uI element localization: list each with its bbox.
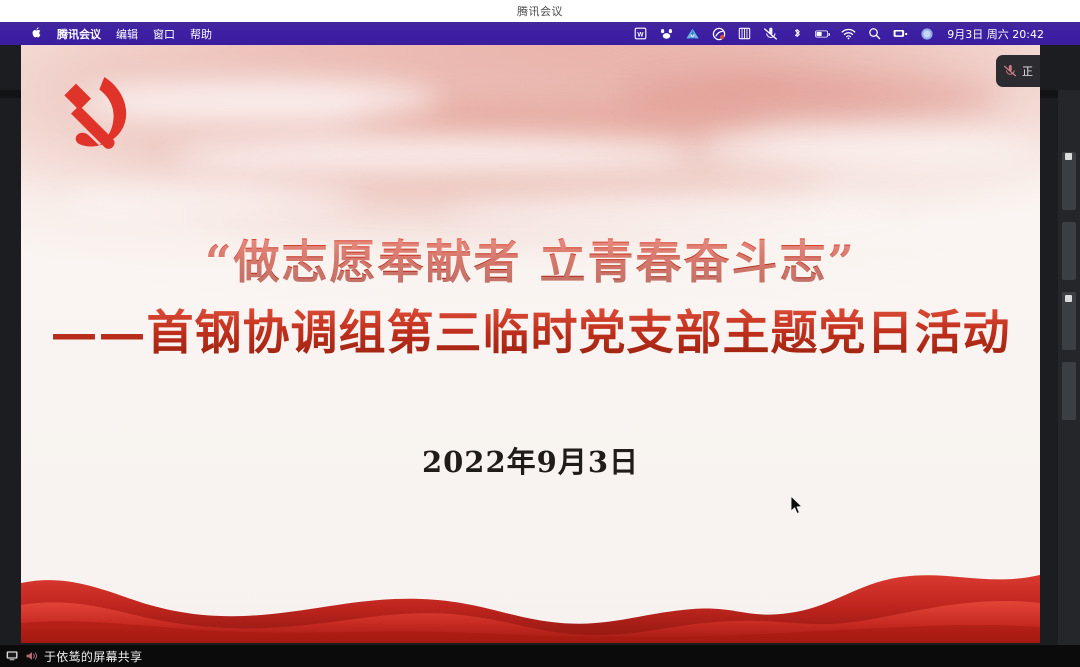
participant-indicator: [1065, 153, 1072, 160]
slide-date: 2022年9月3日: [21, 439, 1040, 481]
cloud-texture: [261, 171, 821, 203]
slide-text-block: “做志愿奉献者 立青春奋斗志” ——首钢协调组第三临时党支部主题党日活动 202…: [21, 235, 1040, 481]
bottom-statusbar: 于依鸶的屏幕共享: [0, 645, 1080, 667]
monitor-icon: [6, 649, 20, 663]
mountain-app-icon[interactable]: M: [685, 26, 700, 41]
participant-thumbnail[interactable]: [1062, 222, 1076, 280]
wifi-icon[interactable]: [841, 26, 856, 41]
participant-thumbnail[interactable]: [1062, 362, 1076, 420]
mouse-cursor: [790, 495, 804, 515]
participant-rail[interactable]: [1058, 90, 1080, 667]
menubar-tray-group: W M: [633, 26, 1080, 42]
screen-share-icon[interactable]: [893, 26, 908, 41]
spotlight-search-icon[interactable]: [867, 26, 882, 41]
slide-subtitle: ——首钢协调组第三临时党支部主题党日活动: [21, 307, 1040, 361]
presentation-slide: “做志愿奉献者 立青春奋斗志” ——首钢协调组第三临时党支部主题党日活动 202…: [21, 45, 1040, 643]
shared-screen-frame[interactable]: “做志愿奉献者 立青春奋斗志” ——首钢协调组第三临时党支部主题党日活动 202…: [21, 45, 1040, 643]
active-speaker-name: 正: [1022, 63, 1033, 79]
input-method-icon[interactable]: [737, 26, 752, 41]
svg-text:M: M: [691, 34, 695, 40]
menu-item-edit[interactable]: 编辑: [116, 26, 138, 42]
red-wave-decoration: [21, 523, 1040, 643]
macos-menubar: 腾讯会议 编辑 窗口 帮助 W: [0, 22, 1080, 45]
control-center-icon[interactable]: [919, 26, 934, 41]
participant-thumbnail[interactable]: [1062, 152, 1076, 210]
baidu-netdisk-icon[interactable]: [659, 26, 674, 41]
slide-title: “做志愿奉献者 立青春奋斗志”: [21, 235, 1040, 289]
shadowrocket-icon[interactable]: [711, 26, 726, 41]
cpc-hammer-sickle-icon: [53, 72, 139, 152]
menubar-clock[interactable]: 9月3日 周六 20:42: [947, 26, 1044, 42]
speaking-icon: [25, 649, 39, 663]
wps-writer-icon[interactable]: W: [633, 26, 648, 41]
screen-share-status-text: 于依鸶的屏幕共享: [44, 648, 142, 665]
window-title: 腾讯会议: [517, 3, 563, 19]
menu-item-help[interactable]: 帮助: [190, 26, 212, 42]
menu-item-window[interactable]: 窗口: [153, 26, 175, 42]
meeting-body: “做志愿奉献者 立青春奋斗志” ——首钢协调组第三临时党支部主题党日活动 202…: [0, 45, 1080, 645]
microphone-muted-icon: [1003, 64, 1017, 78]
svg-text:W: W: [638, 31, 645, 38]
cloud-texture: [441, 197, 901, 223]
bluetooth-icon[interactable]: [789, 26, 804, 41]
cloud-texture: [61, 185, 361, 213]
window-titlebar: 腾讯会议: [0, 0, 1080, 22]
cloud-texture: [621, 75, 1001, 119]
menu-item-app[interactable]: 腾讯会议: [57, 26, 101, 42]
microphone-muted-icon[interactable]: [763, 26, 778, 41]
battery-icon[interactable]: [815, 26, 830, 41]
cloud-texture: [171, 137, 691, 175]
cloud-texture: [701, 131, 1031, 165]
cloud-texture: [351, 103, 771, 143]
participant-indicator: [1065, 295, 1072, 302]
active-speaker-pill[interactable]: 正: [996, 55, 1040, 87]
apple-logo-icon[interactable]: [30, 26, 43, 41]
menubar-left-group: 腾讯会议 编辑 窗口 帮助: [0, 26, 227, 42]
app-root: 腾讯会议 腾讯会议 编辑 窗口 帮助 W: [0, 0, 1080, 667]
